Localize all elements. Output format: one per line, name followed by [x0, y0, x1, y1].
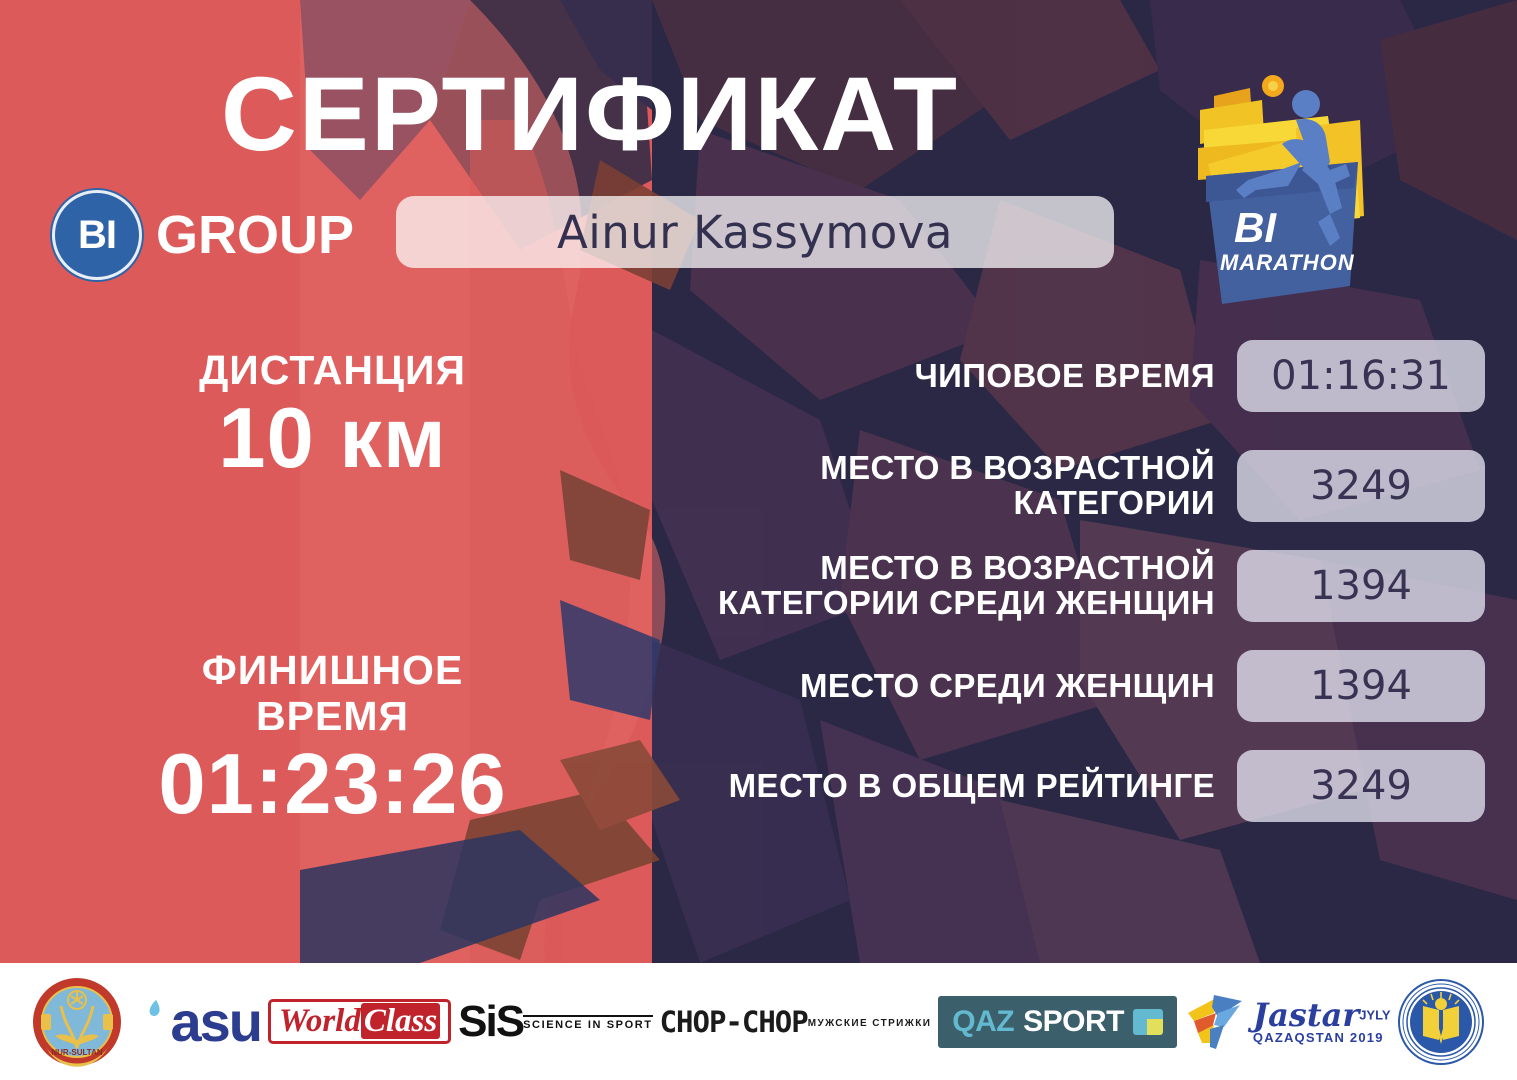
sponsor-nur-sultan-emblem: NUR-SULTAN — [31, 976, 123, 1068]
sponsor-bar: NUR-SULTAN asu WorldClass SiS SCIENCE IN… — [0, 963, 1517, 1080]
world-class-text1: World — [279, 1003, 361, 1039]
result-value: 1394 — [1237, 550, 1485, 622]
nur-sultan-text: NUR-SULTAN — [52, 1048, 103, 1057]
world-class-text2: Class — [361, 1003, 440, 1039]
result-label: МЕСТО В ОБЩЕМ РЕЙТИНГЕ — [640, 769, 1237, 804]
bi-mark-text: BI — [78, 213, 116, 258]
sis-tagline: SCIENCE IN SPORT — [523, 1015, 653, 1031]
sponsor-chop-chop: CHOP-CHOP МУЖСКИЕ СТРИЖКИ — [660, 1005, 932, 1039]
bi-group-label: GROUP — [156, 204, 354, 266]
jastar-subtitle: QAZAQSTAN 2019 — [1253, 1031, 1391, 1044]
jastar-arrow-icon — [1184, 991, 1246, 1053]
certificate-canvas: СЕРТИФИКАТ Ainur Kassymova BI GROUP — [0, 0, 1517, 1080]
results-list: ЧИПОВОЕ ВРЕМЯ 01:16:31 МЕСТО В ВОЗРАСТНО… — [640, 340, 1485, 836]
sponsor-jastar: JastarJYLY QAZAQSTAN 2019 — [1184, 991, 1391, 1053]
result-value: 01:16:31 — [1237, 340, 1485, 412]
jastar-jyly-text: JYLY — [1359, 1008, 1390, 1023]
distance-label: ДИСТАНЦИЯ — [60, 348, 605, 394]
result-label: МЕСТО В ВОЗРАСТНОЙ КАТЕГОРИИ СРЕДИ ЖЕНЩИ… — [640, 551, 1237, 621]
result-row: МЕСТО В ОБЩЕМ РЕЙТИНГЕ 3249 — [640, 750, 1485, 822]
sponsor-qazsport: QAZSPORT — [938, 996, 1177, 1048]
chop-chop-text: CHOP-CHOP — [660, 1005, 808, 1039]
participant-name: Ainur Kassymova — [557, 206, 953, 259]
asu-text: asu — [170, 994, 261, 1050]
page-title: СЕРТИФИКАТ — [0, 62, 1180, 167]
result-label: ЧИПОВОЕ ВРЕМЯ — [640, 359, 1237, 394]
sponsor-asu: asu — [130, 994, 261, 1050]
result-row: МЕСТО СРЕДИ ЖЕНЩИН 1394 — [640, 650, 1485, 722]
finish-time-label-line2: ВРЕМЯ — [60, 694, 605, 740]
sponsor-ministry-emblem — [1397, 978, 1485, 1066]
distance-value: 10 км — [60, 394, 605, 483]
result-value: 3249 — [1237, 750, 1485, 822]
marathon-bi-text: BI — [1234, 204, 1277, 251]
finish-time-label-line1: ФИНИШНОЕ — [60, 648, 605, 694]
result-label: МЕСТО СРЕДИ ЖЕНЩИН — [640, 669, 1237, 704]
result-value: 1394 — [1237, 650, 1485, 722]
qazsport-square-icon — [1133, 1009, 1163, 1035]
finish-time-value: 01:23:26 — [60, 740, 605, 829]
sis-text: SiS — [458, 1002, 523, 1042]
result-value: 3249 — [1237, 450, 1485, 522]
marathon-word-text: MARATHON — [1220, 250, 1355, 275]
result-label: МЕСТО В ВОЗРАСТНОЙ КАТЕГОРИИ — [640, 451, 1237, 521]
sponsor-world-class: WorldClass — [268, 999, 451, 1044]
bi-circle-icon: BI — [52, 190, 142, 280]
participant-name-field: Ainur Kassymova — [396, 196, 1114, 268]
sponsor-sis: SiS SCIENCE IN SPORT — [458, 1002, 652, 1042]
jastar-text: Jastar — [1253, 996, 1359, 1034]
distance-block: ДИСТАНЦИЯ 10 км — [60, 348, 605, 483]
qazsport-text2: SPORT — [1023, 1005, 1124, 1039]
finish-time-block: ФИНИШНОЕ ВРЕМЯ 01:23:26 — [60, 648, 605, 829]
qazsport-text1: QAZ — [952, 1005, 1014, 1039]
result-row: МЕСТО В ВОЗРАСТНОЙ КАТЕГОРИИ 3249 — [640, 450, 1485, 522]
result-row: ЧИПОВОЕ ВРЕМЯ 01:16:31 — [640, 340, 1485, 412]
bi-marathon-logo: BI MARATHON — [1178, 58, 1393, 313]
result-row: МЕСТО В ВОЗРАСТНОЙ КАТЕГОРИИ СРЕДИ ЖЕНЩИ… — [640, 550, 1485, 622]
chop-chop-tagline: МУЖСКИЕ СТРИЖКИ — [808, 1018, 932, 1029]
bi-group-logo: BI GROUP — [52, 190, 354, 280]
